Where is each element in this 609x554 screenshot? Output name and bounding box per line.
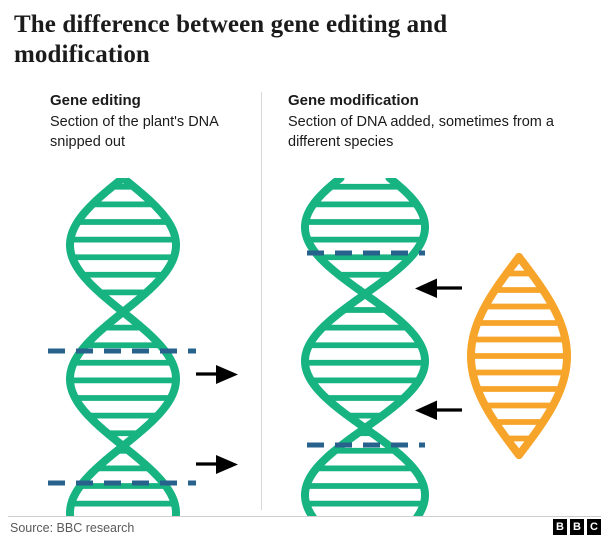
footer-divider: [8, 516, 601, 517]
panel-gene-modification: Gene modification Section of DNA added, …: [280, 90, 600, 152]
bbc-logo-letter-3: C: [587, 519, 601, 535]
dna-helix-left: [70, 178, 176, 516]
infographic-page: The difference between gene editing and …: [0, 0, 609, 554]
insert-arrow-upper: [415, 279, 462, 299]
bbc-logo: B B C: [553, 519, 601, 535]
panel-divider: [261, 92, 262, 510]
bbc-logo-letter-2: B: [570, 519, 584, 535]
panel-heading-gene-modification: Gene modification: [288, 90, 600, 111]
orange-dna-segment: [471, 257, 567, 455]
panel-subtitle-gene-modification: Section of DNA added, sometimes from a d…: [288, 112, 593, 152]
panel-heading-gene-editing: Gene editing: [50, 90, 254, 111]
snip-arrow-upper: [196, 365, 238, 384]
panel-subtitle-gene-editing: Section of the plant's DNA snipped out: [50, 112, 255, 152]
panel-gene-editing: Gene editing Section of the plant's DNA …: [14, 90, 254, 152]
diagram-graphics: [0, 0, 609, 516]
dna-helix-right: [305, 178, 425, 516]
page-title: The difference between gene editing and …: [14, 10, 574, 70]
source-label: Source: BBC research: [10, 521, 134, 535]
snip-arrow-lower: [196, 455, 238, 474]
bbc-logo-letter-1: B: [553, 519, 567, 535]
insert-arrow-lower: [415, 401, 462, 421]
